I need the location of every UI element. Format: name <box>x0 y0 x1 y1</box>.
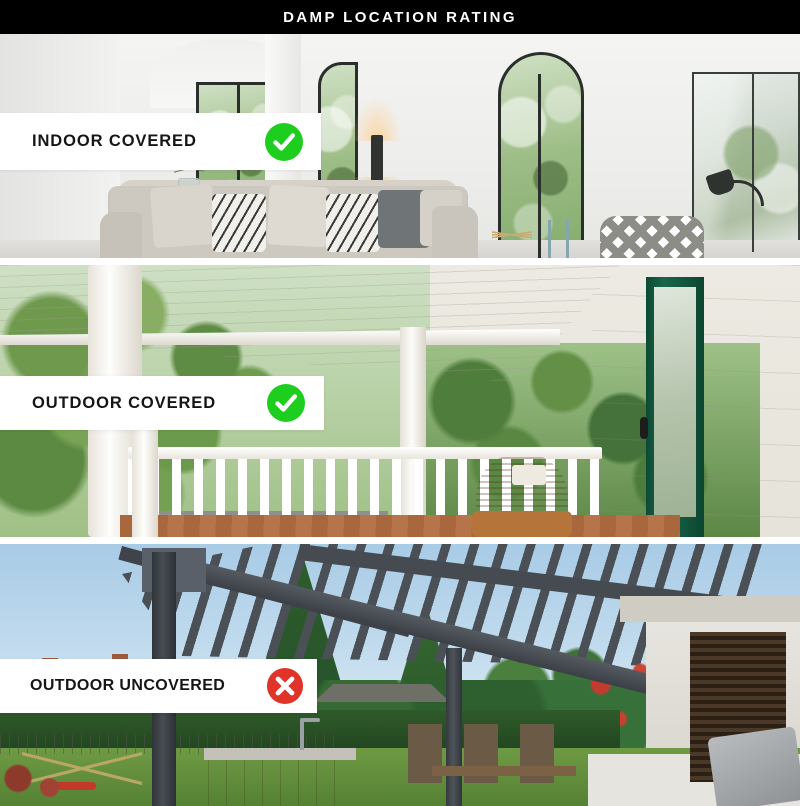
rating-label-text: OUTDOOR UNCOVERED <box>30 677 225 695</box>
sofa-arm-left <box>100 212 142 258</box>
rating-label-indoor-covered: INDOOR COVERED <box>0 113 321 170</box>
patio-dining-table <box>432 766 576 776</box>
rating-label-outdoor-covered: OUTDOOR COVERED <box>0 376 324 430</box>
red-foliage-plant <box>0 760 90 806</box>
patio-dining-chairs <box>408 724 608 806</box>
wicker-chair-seat <box>472 511 572 537</box>
throw-pillow <box>326 194 380 252</box>
rating-label-outdoor-uncovered: OUTDOOR UNCOVERED <box>0 659 317 713</box>
outdoor-faucet-spout <box>300 718 320 722</box>
house-eave <box>620 596 800 622</box>
dried-reeds-decor <box>492 210 532 258</box>
floor-rail-b <box>566 220 569 258</box>
outdoor-faucet <box>300 720 304 750</box>
outdoor-kitchen-cabinet <box>208 752 352 806</box>
mirror-mullion <box>752 72 754 252</box>
rating-label-text: OUTDOOR COVERED <box>32 394 216 413</box>
garden-shed-roof <box>314 684 450 702</box>
x-circle-icon <box>266 667 304 705</box>
throw-pillow <box>266 184 329 247</box>
page-title: DAMP LOCATION RATING <box>283 9 517 26</box>
panel-divider <box>0 537 800 544</box>
throw-pillow <box>212 194 266 252</box>
patterned-armchair <box>600 216 704 258</box>
porch-newel-post <box>132 429 158 537</box>
sofa-arm-right <box>432 206 478 258</box>
window-arched-mullion <box>538 74 541 258</box>
wall-sconce-icon <box>371 135 383 181</box>
header-bar: DAMP LOCATION RATING <box>0 0 800 34</box>
porch-deck-floor <box>120 515 680 537</box>
check-circle-icon <box>266 383 306 423</box>
door-glass <box>654 287 696 517</box>
rating-label-text: INDOOR COVERED <box>32 132 197 151</box>
patio-lounger <box>707 726 800 806</box>
window-mirror-right <box>692 72 800 252</box>
door-handle-icon <box>640 417 648 439</box>
check-circle-icon <box>264 122 304 162</box>
floor-rail-a <box>548 220 551 258</box>
chair-cushion <box>512 465 546 485</box>
throw-pillow <box>150 184 216 248</box>
panel-divider <box>0 258 800 265</box>
outdoor-kitchen-counter <box>204 748 356 760</box>
